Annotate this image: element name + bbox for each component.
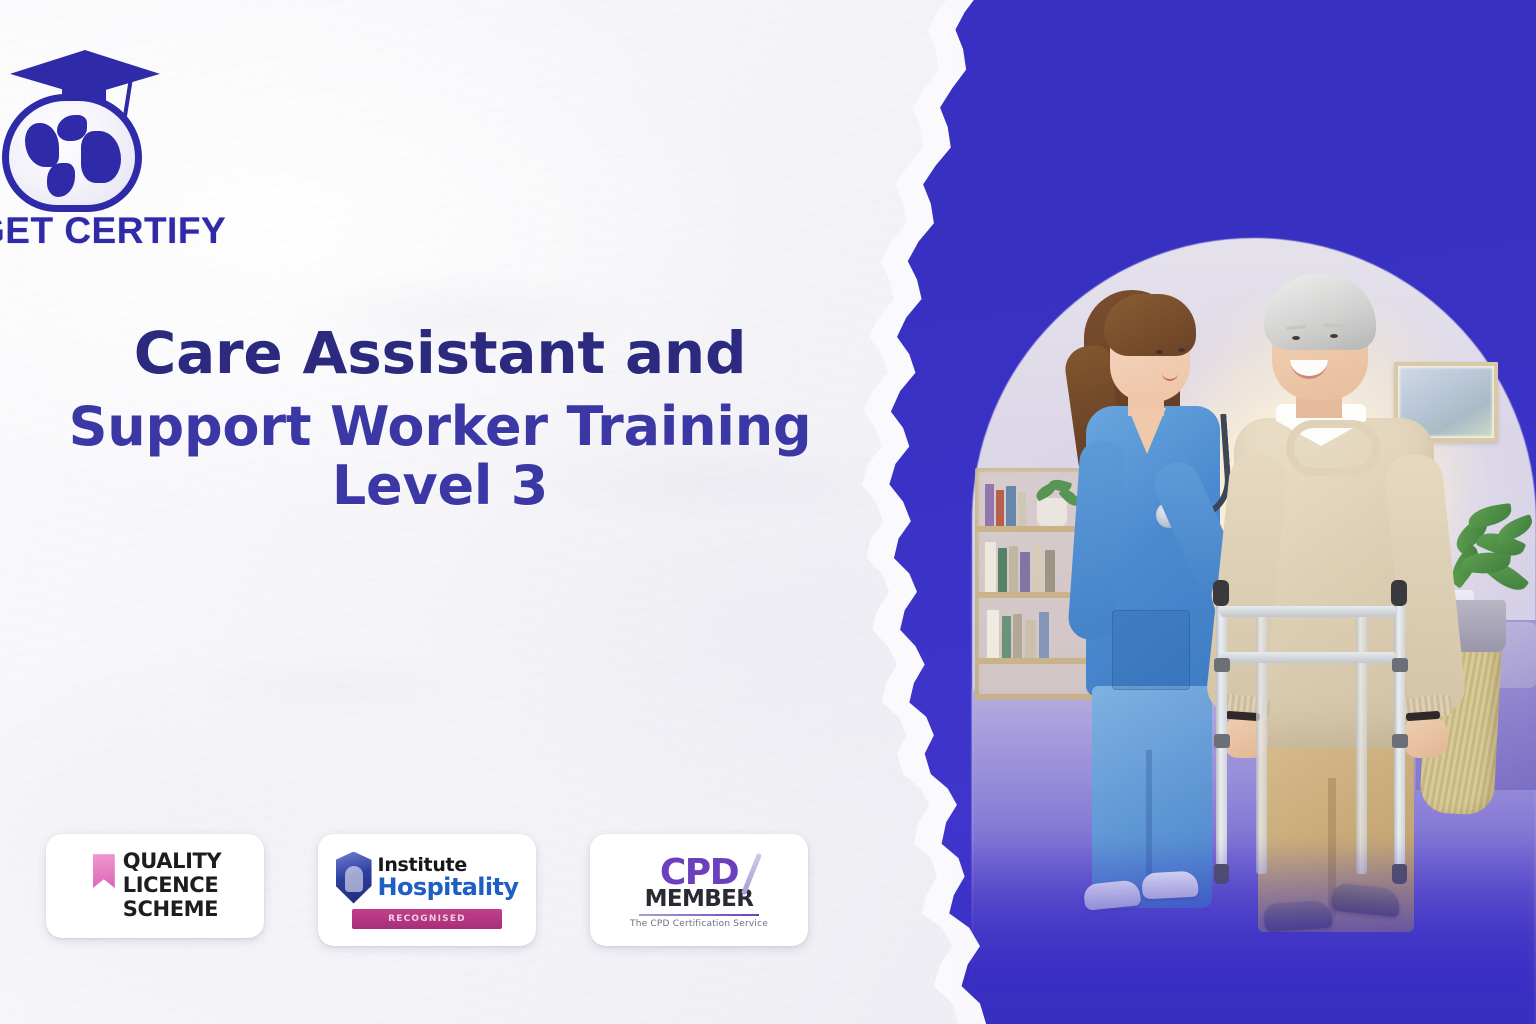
brand-logo[interactable]: GET CERTIFY: [0, 40, 196, 230]
badge-cpd-member[interactable]: CPD MEMBER The CPD Certification Service: [590, 834, 808, 946]
title-line-1: Care Assistant and: [0, 322, 880, 385]
badge-quality-licence-scheme[interactable]: QUALITY LICENCE SCHEME: [46, 834, 264, 938]
course-banner-slide: GET CERTIFY Care Assistant and Support W…: [0, 0, 1536, 1024]
qls-line-2: LICENCE: [123, 874, 221, 898]
qls-line-1: QUALITY: [123, 850, 221, 874]
cpd-divider: [639, 914, 759, 916]
brand-logo-text: GET CERTIFY: [0, 210, 226, 252]
ioh-line-2: Hospitality: [378, 875, 519, 899]
page-title: Care Assistant and Support Worker Traini…: [0, 322, 880, 515]
accreditation-badges: QUALITY LICENCE SCHEME Institute Hospita…: [46, 834, 808, 946]
cpd-subtext: The CPD Certification Service: [630, 919, 768, 930]
title-line-2: Support Worker Training Level 3: [0, 397, 880, 516]
qls-line-3: SCHEME: [123, 898, 221, 922]
ioh-ribbon: RECOGNISED: [352, 909, 502, 929]
globe-icon: [2, 94, 142, 212]
badge-institute-of-hospitality[interactable]: Institute Hospitality RECOGNISED: [318, 834, 536, 946]
ioh-ribbon-text: RECOGNISED: [388, 914, 466, 924]
crest-icon: [336, 852, 372, 904]
cpd-line-1: CPD: [660, 856, 738, 891]
bookmark-icon: [93, 854, 115, 888]
